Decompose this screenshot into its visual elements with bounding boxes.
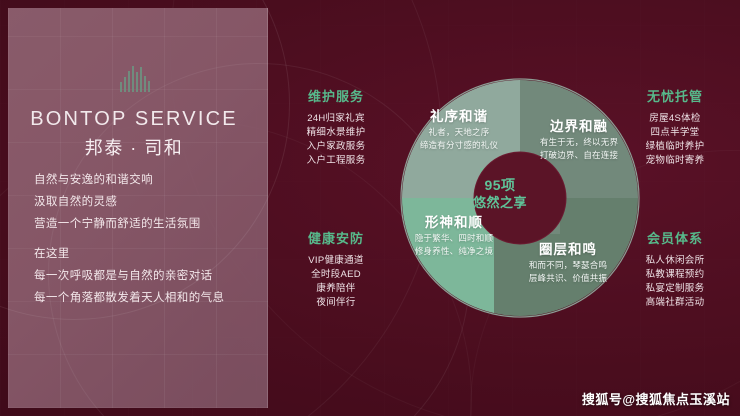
quadrant-heading: 礼序和谐 [404,108,514,126]
service-group-title: 健康安防 [288,228,384,247]
panel-line-2: 汲取自然的灵感 [34,194,258,210]
panel-right-edge [267,8,268,408]
panel-line-1: 自然与安逸的和谐交响 [34,172,258,188]
quadrant-subline: 隐于繁华、四时和顺 [398,232,510,245]
service-item: VIP健康通道 [288,254,384,268]
quadrant-subline: 层峰共识、价值共振 [508,272,628,285]
paragraph-gap [34,238,258,246]
service-group-maintenance: 维护服务 24H归家礼宾 精细水景维护 入户家政服务 入户工程服务 [288,86,384,168]
panel-line-5: 每一次呼吸都是与自然的亲密对话 [34,268,258,284]
panel-line-3: 营造一个宁静而舒适的生活氛围 [34,216,258,232]
quadrant-label-top-right: 边界和融 有生于无，终以无界 打破边界、自在连接 [520,118,638,162]
service-item: 入户家政服务 [288,140,384,154]
service-group-health-security: 健康安防 VIP健康通道 全时段AED 康养陪伴 夜间伴行 [288,228,384,310]
service-item: 24H归家礼宾 [288,112,384,126]
quadrant-subline: 修身养性、纯净之境 [398,245,510,258]
hub-label: 95项 悠然之享 [460,176,540,211]
vertical-bars-icon [120,66,150,92]
panel-line-4: 在这里 [34,246,258,262]
quadrant-heading: 边界和融 [520,118,638,136]
quadrant-label-bottom-left: 形神和顺 隐于繁华、四时和顺 修身养性、纯净之境 [398,214,510,258]
service-item: 精细水景维护 [288,126,384,140]
hub-caption: 悠然之享 [460,194,540,211]
panel-line-6: 每一个角落都散发着天人相和的气息 [34,290,258,306]
quadrant-subline: 礼者，天地之序 [404,126,514,139]
page-title-cn: 邦泰 · 司和 [0,134,268,160]
quadrant-label-bottom-right: 圈层和鸣 和而不同，琴瑟合鸣 层峰共识、价值共振 [508,241,628,285]
quadrant-subline: 打破边界、自在连接 [520,149,638,162]
page-title-en: BONTOP SERVICE [0,108,268,131]
quadrant-label-top-left: 礼序和谐 礼者，天地之序 缔造有分寸感的礼仪 [404,108,514,152]
service-group-title: 维护服务 [288,86,384,105]
quadrant-subline: 和而不同，琴瑟合鸣 [508,259,628,272]
quadrant-subline: 缔造有分寸感的礼仪 [404,139,514,152]
quadrant-heading: 形神和顺 [398,214,510,232]
quadrant-subline: 有生于无，终以无界 [520,136,638,149]
quadrant-heading: 圈层和鸣 [508,241,628,259]
service-item: 康养陪伴 [288,282,384,296]
hub-count: 95项 [460,176,540,194]
slide-canvas: BONTOP SERVICE 邦泰 · 司和 自然与安逸的和谐交响 汲取自然的灵… [0,0,740,416]
watermark: 搜狐号@搜狐焦点玉溪站 [582,389,730,408]
service-item: 入户工程服务 [288,154,384,168]
service-item: 夜间伴行 [288,296,384,310]
service-item: 全时段AED [288,268,384,282]
left-panel-body: 自然与安逸的和谐交响 汲取自然的灵感 营造一个宁静而舒适的生活氛围 在这里 每一… [34,172,258,312]
